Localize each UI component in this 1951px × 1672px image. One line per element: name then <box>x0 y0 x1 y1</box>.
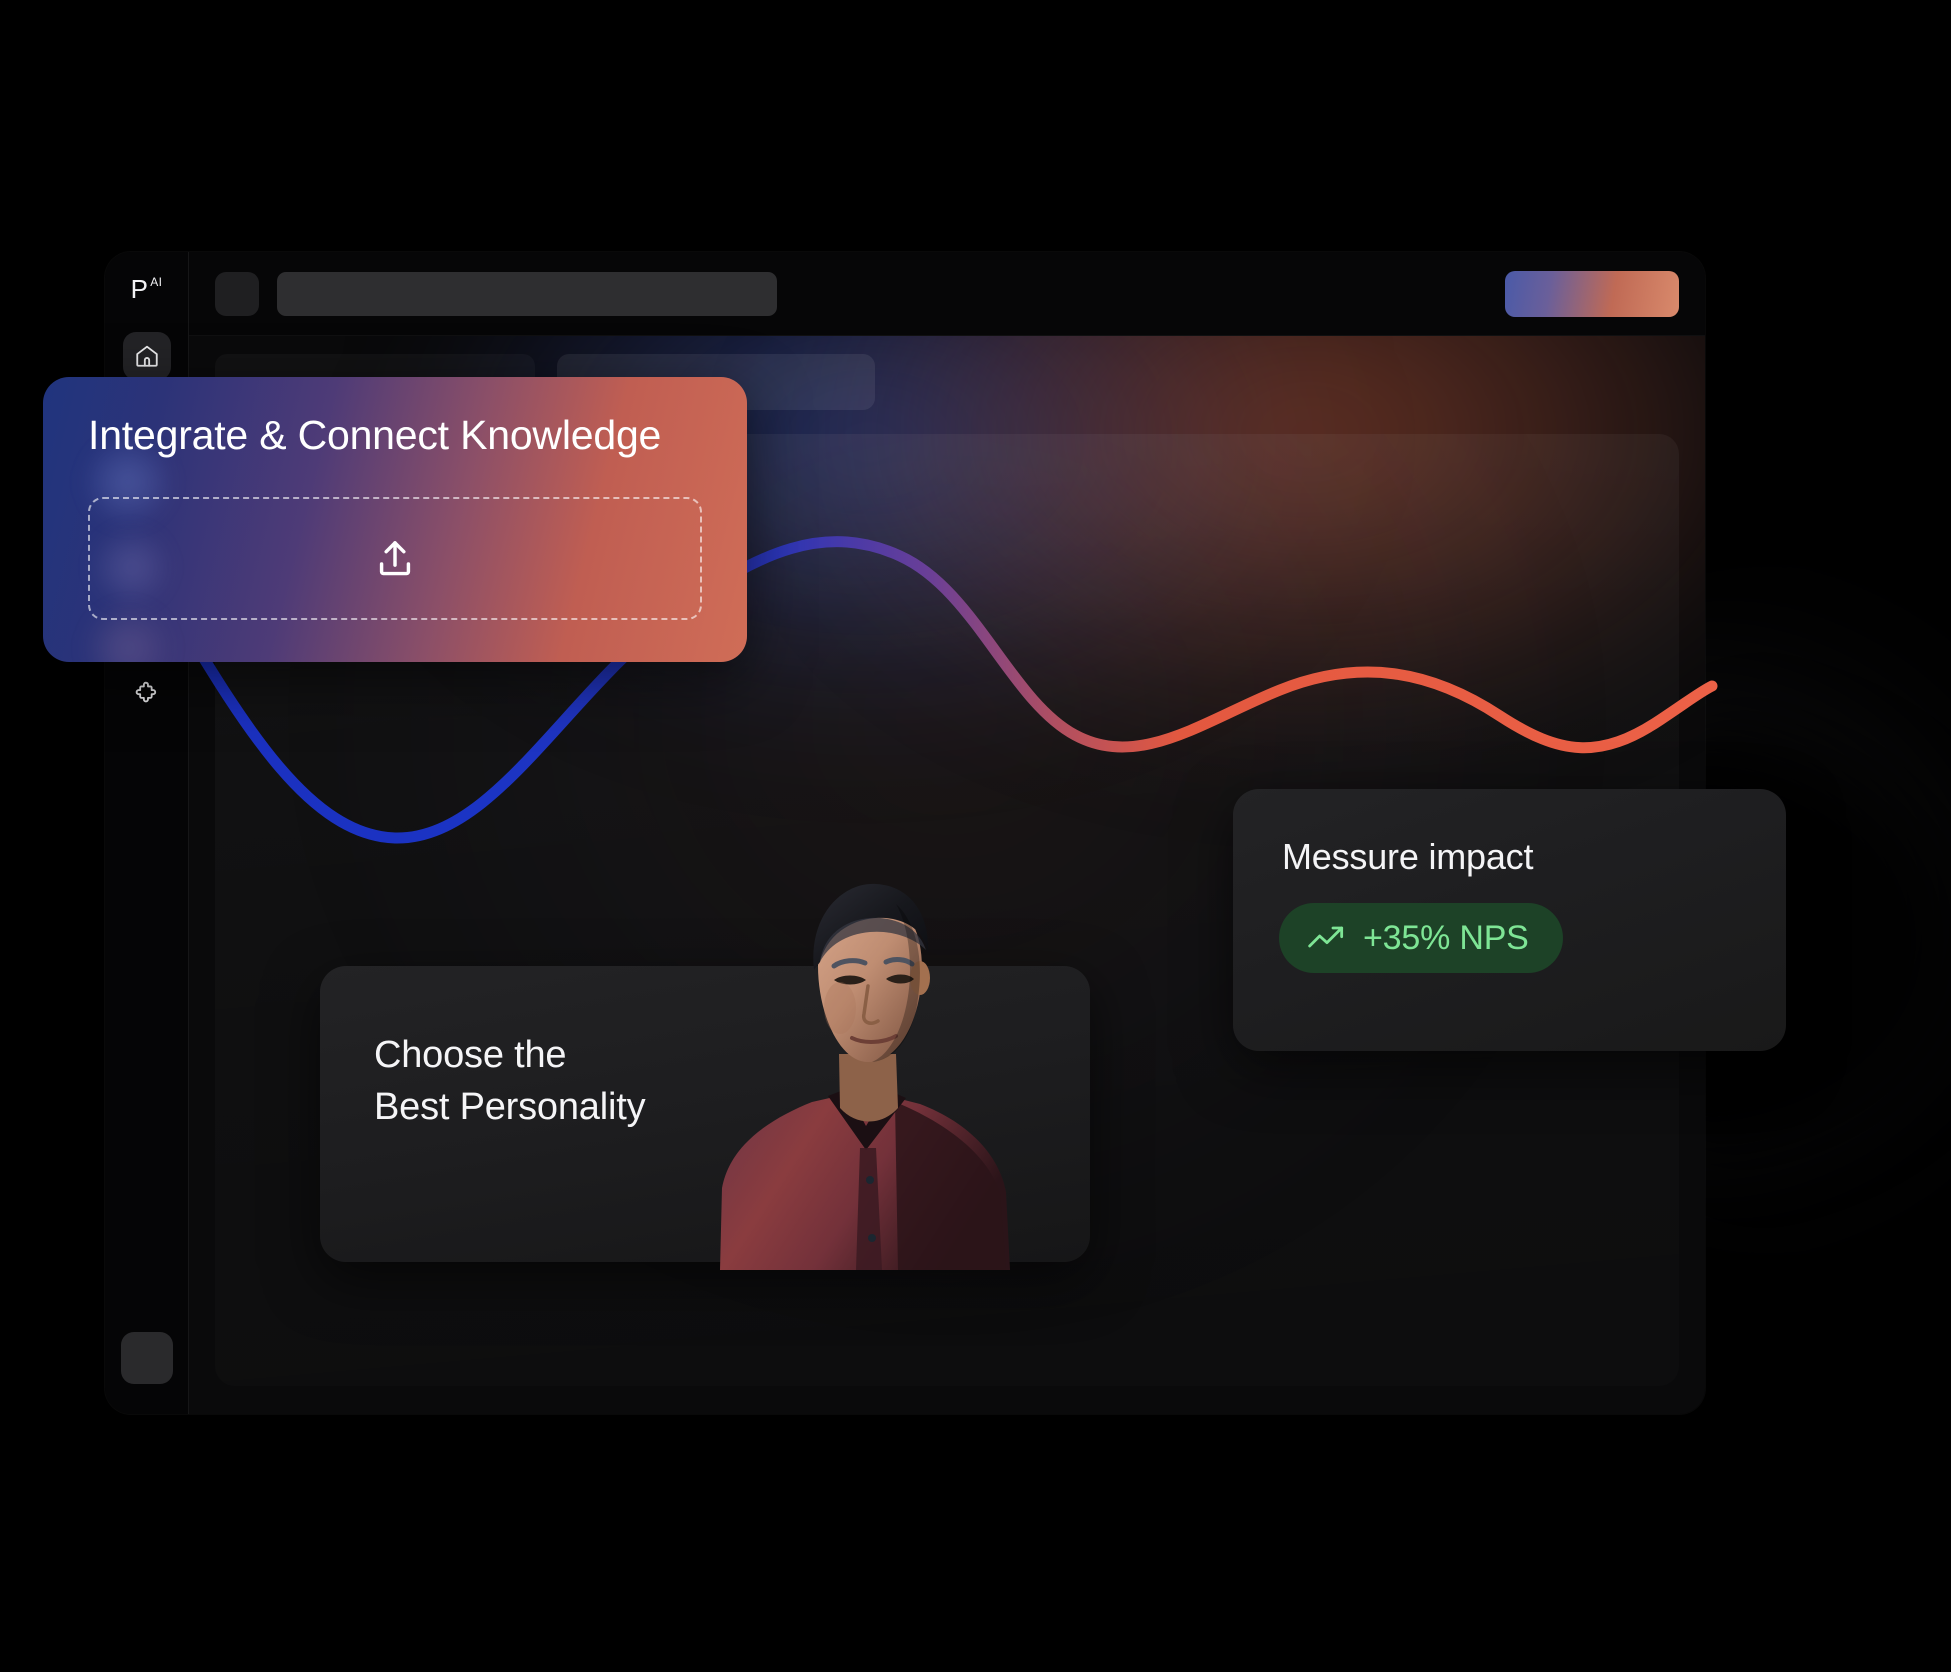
personality-card-title: Choose the Best Personality <box>374 1030 1090 1133</box>
impact-card-title: Messure impact <box>1282 836 1786 878</box>
personality-title-line-1: Choose the <box>374 1030 1090 1082</box>
topbar <box>189 252 1705 336</box>
brand-logo[interactable]: P AI <box>131 276 163 302</box>
knowledge-card-title: Integrate & Connect Knowledge <box>88 413 747 458</box>
avatar[interactable] <box>121 1332 173 1384</box>
upload-icon <box>372 536 418 582</box>
home-icon <box>134 343 160 369</box>
status-badge: +35% NPS <box>1279 903 1563 973</box>
status-badge-text: +35% NPS <box>1363 919 1529 958</box>
puzzle-icon <box>134 680 160 706</box>
personality-title-line-2: Best Personality <box>374 1082 1090 1134</box>
file-dropzone[interactable] <box>88 497 702 620</box>
search-input[interactable] <box>277 272 777 316</box>
knowledge-card[interactable]: Integrate & Connect Knowledge <box>43 377 747 662</box>
screenshot-root: P AI Home Files <box>0 0 1951 1672</box>
personality-card[interactable]: Choose the Best Personality <box>320 966 1090 1262</box>
brand-superscript: AI <box>150 276 162 288</box>
brand-letter: P <box>131 276 149 302</box>
primary-cta-button[interactable] <box>1505 271 1679 317</box>
impact-card[interactable]: Messure impact +35% NPS <box>1233 789 1786 1051</box>
sidebar-item-home[interactable]: Home <box>123 332 171 380</box>
trending-up-icon <box>1307 923 1347 953</box>
menu-button[interactable] <box>215 272 259 316</box>
sidebar-item-plugins[interactable]: Integrations <box>123 669 171 717</box>
